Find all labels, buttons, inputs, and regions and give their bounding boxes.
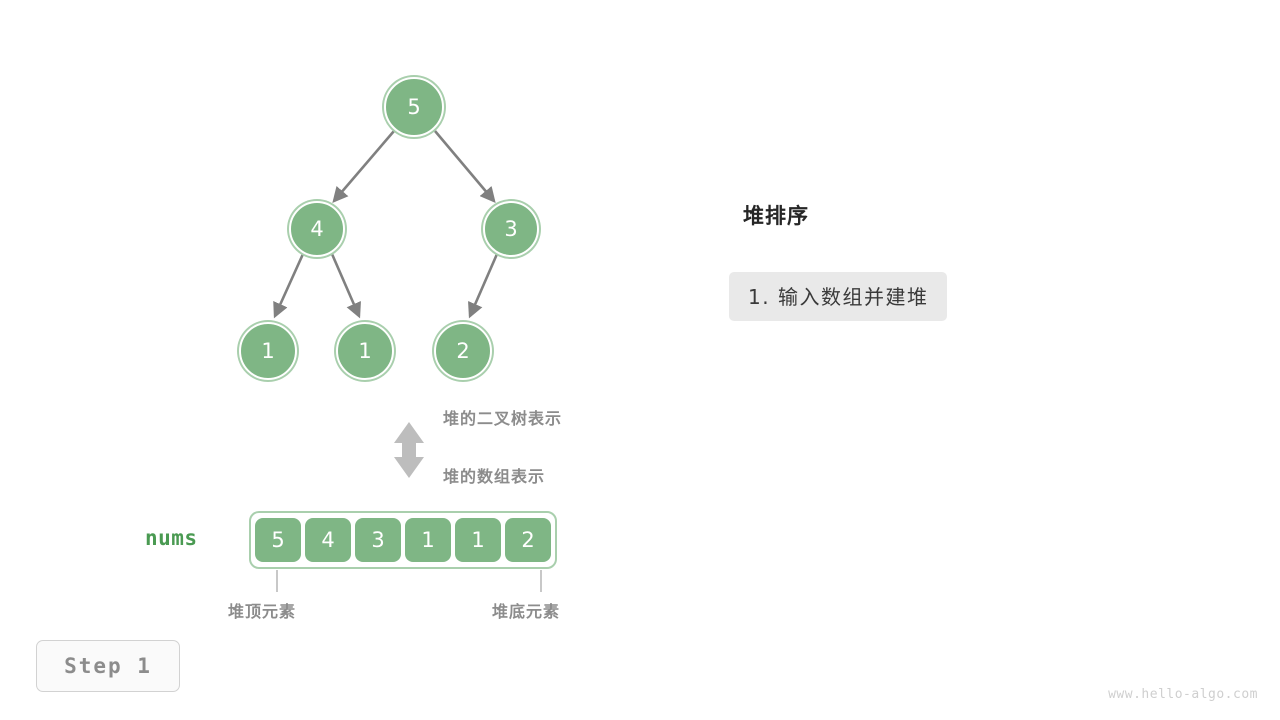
array-cell-value: 3 <box>371 528 384 552</box>
tree-node-leaf-3[interactable]: 2 <box>434 322 492 380</box>
page-title: 堆排序 <box>743 200 1149 230</box>
tree-node-right-child[interactable]: 3 <box>483 201 539 257</box>
step-badge: Step 1 <box>36 640 180 692</box>
tree-node-value: 1 <box>358 339 371 363</box>
array-cell[interactable]: 1 <box>405 518 451 562</box>
edge-3-to-2 <box>470 254 497 316</box>
edge-5-to-4 <box>334 131 394 201</box>
tree-node-value: 4 <box>310 217 323 241</box>
tree-node-root[interactable]: 5 <box>384 77 444 137</box>
array-cell[interactable]: 1 <box>455 518 501 562</box>
caption-heap-top: 堆顶元素 <box>228 598 296 622</box>
tree-node-value: 5 <box>407 95 420 119</box>
watermark: www.hello-algo.com <box>1108 687 1258 702</box>
array-cell[interactable]: 2 <box>505 518 551 562</box>
array-cell-value: 1 <box>471 528 484 552</box>
tree-node-value: 1 <box>261 339 274 363</box>
array-cell[interactable]: 4 <box>305 518 351 562</box>
edge-4-to-1-left <box>275 254 303 316</box>
array-cell-value: 2 <box>521 528 534 552</box>
array-cell-value: 5 <box>271 528 284 552</box>
tree-node-leaf-2[interactable]: 1 <box>336 322 394 380</box>
double-arrow-vertical-icon <box>394 422 424 478</box>
step-item-1[interactable]: 1. 输入数组并建堆 <box>729 272 947 321</box>
tree-node-leaf-1[interactable]: 1 <box>239 322 297 380</box>
caption-array-representation: 堆的数组表示 <box>443 463 545 487</box>
tree-node-value: 3 <box>504 217 517 241</box>
array-container: 5 4 3 1 1 2 <box>249 511 557 569</box>
caption-heap-bottom: 堆底元素 <box>492 598 560 622</box>
edge-5-to-3 <box>435 131 494 201</box>
array-cell[interactable]: 3 <box>355 518 401 562</box>
array-name-label: nums <box>145 526 198 550</box>
array-leader-lines <box>277 570 541 592</box>
array-cell-value: 4 <box>321 528 334 552</box>
tree-node-left-child[interactable]: 4 <box>289 201 345 257</box>
tree-node-value: 2 <box>456 339 469 363</box>
info-panel: 堆排序 1. 输入数组并建堆 <box>729 200 1149 321</box>
diagram-canvas <box>0 0 1280 720</box>
array-cell-value: 1 <box>421 528 434 552</box>
caption-tree-representation: 堆的二叉树表示 <box>443 405 562 429</box>
edge-4-to-1-right <box>332 254 359 316</box>
array-cell[interactable]: 5 <box>255 518 301 562</box>
